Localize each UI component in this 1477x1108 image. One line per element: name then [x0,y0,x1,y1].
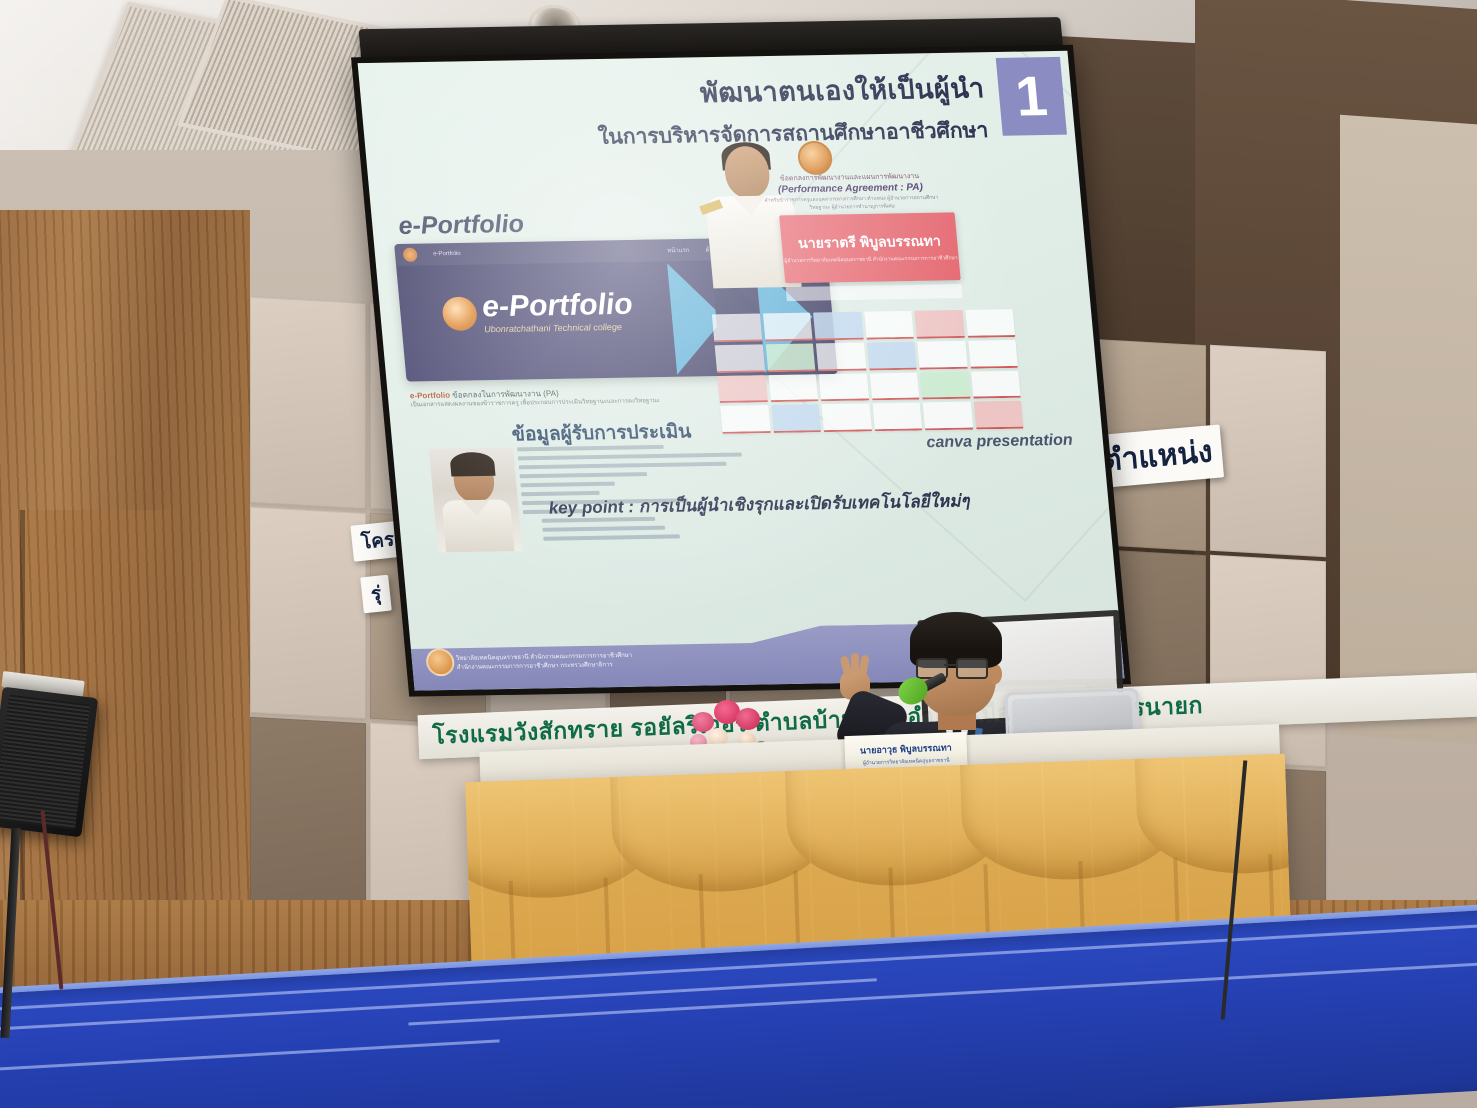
nameplate-name: นายอาวุธ พิบูลบรรณทา [860,740,952,757]
wall-column-beige [1340,115,1477,745]
evaluatee-photo [429,447,523,552]
pa-small-text: สำหรับข้าราชการครูและบุคลากรทางการศึกษา … [763,195,940,213]
pa-speaker [0,687,98,838]
canva-thumbnail [715,344,765,372]
browser-brand: e-Portfolio [433,251,461,257]
canva-thumbnail [821,404,871,432]
canva-thumbnail [720,405,770,433]
canva-thumbnail [765,343,815,371]
canva-thumbnail [917,341,967,369]
photo-hair [449,452,495,477]
speaker-grille-icon [0,694,90,829]
canva-thumbnail [768,374,818,402]
canva-thumbnail [816,342,866,370]
canva-thumbnail [965,309,1015,337]
canva-thumbnail [973,401,1023,429]
slide-title-line1: พัฒนาตนเองให้เป็นผู้นำ [698,66,986,114]
presentation-slide: 1 พัฒนาตนเองให้เป็นผู้นำ ในการบริหารจัดก… [358,51,1125,691]
projection-screen: 1 พัฒนาตนเองให้เป็นผู้นำ ในการบริหารจัดก… [327,5,1122,715]
slide-title-line2: ในการบริหารจัดการสถานศึกษาอาชีวศึกษา [597,114,990,154]
canva-thumbnail [762,313,812,341]
stage-floor-tape [0,1039,500,1071]
screenshot-root: โครงก รุ่ ตำแหน่ง กษา 1 พัฒนาตนเองให้เป็… [0,0,1477,1108]
stage-floor-tape [408,962,1477,1026]
canva-slide-thumbnails [712,309,1024,434]
hero-subtitle: Ubonratchathani Technical college [484,322,635,335]
canva-thumbnail [819,373,869,401]
pa-english-header: (Performance Agreement : PA) [762,182,938,196]
acoustic-panel [250,507,366,719]
pa-name-card: นายราตรี พิบูลบรรณทา ผู้อำนวยการวิทยาลัย… [779,212,961,283]
slide-footer-text: วิทยาลัยเทคนิคอุบลราชธานี สำนักงานคณะกรร… [456,652,634,674]
canva-thumbnail [864,311,914,339]
canva-thumbnail [971,370,1021,398]
canva-thumbnail [771,405,821,433]
canva-label: canva presentation [926,432,1074,452]
browser-hero: e-Portfolio Ubonratchathani Technical co… [441,290,635,335]
acoustic-panel [1210,345,1326,557]
acoustic-panel [250,297,366,509]
canva-thumbnail [914,310,964,338]
browser-nav-item-0[interactable]: หน้าแรก [667,245,690,255]
pa-name: นายราตรี พิบูลบรรณทา [797,230,942,254]
canva-thumbnail [968,340,1018,368]
eportfolio-label: e-Portfolio [397,210,525,241]
pa-name-sub: ผู้อำนวยการวิทยาลัยเทคนิคอุบลราชธานี สำน… [784,255,958,265]
hero-title: e-Portfolio [481,290,634,323]
slide-number-badge: 1 [996,57,1067,136]
canva-thumbnail [872,403,922,431]
caption-brand: e-Portfolio [410,391,451,401]
canva-thumbnail [920,371,970,399]
canva-thumbnail [712,314,762,342]
hero-logo-icon [441,297,478,331]
canva-thumbnail [813,312,863,340]
canva-thumbnail [923,402,973,430]
canva-thumbnail [717,375,767,403]
canva-thumbnail [869,372,919,400]
canva-thumbnail [866,341,916,369]
browser-logo-icon [403,248,418,262]
acoustic-panel [250,717,366,929]
pa-header-block: ข้อตกลงการพัฒนางานและแผนการพัฒนางาน (Per… [761,171,940,213]
caption-rest: ข้อตกลงในการพัฒนางาน (PA) [450,389,559,400]
